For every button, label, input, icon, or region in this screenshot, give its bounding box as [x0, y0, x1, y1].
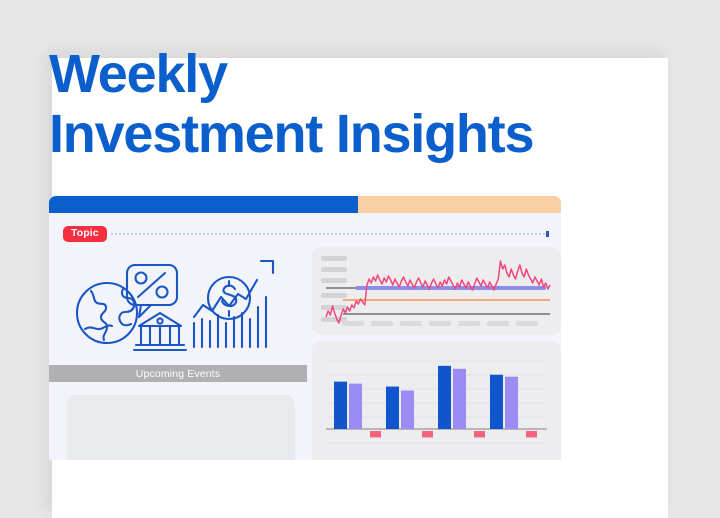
- panel-body: Topic: [49, 213, 561, 460]
- percent-speech-bubble-icon: [127, 265, 177, 317]
- page-title-line-1: Weekly: [49, 44, 227, 104]
- x-axis-label-stub: [371, 321, 393, 326]
- x-axis-label-stub: [429, 321, 451, 326]
- x-axis-label-stub: [487, 321, 509, 326]
- panel-top-bar: [49, 196, 561, 213]
- line-chart-card[interactable]: [312, 247, 561, 335]
- document-preview-panel[interactable]: Topic: [49, 196, 561, 460]
- topic-rule-end-marker: [546, 231, 549, 237]
- upcoming-events-card[interactable]: [67, 395, 295, 460]
- left-content-column: Upcoming Events: [49, 243, 307, 460]
- upcoming-events-bar: Upcoming Events: [49, 365, 307, 382]
- finance-illustration: [61, 251, 299, 355]
- x-axis-label-stub: [342, 321, 364, 326]
- topic-dotted-rule: [111, 233, 545, 235]
- x-axis-label-stub: [516, 321, 538, 326]
- upcoming-events-label: Upcoming Events: [136, 368, 221, 380]
- page-title: Weekly Investment Insights: [49, 44, 609, 165]
- right-charts-column: [312, 243, 561, 460]
- bar-chart-card[interactable]: [312, 341, 561, 460]
- top-bar-peach-segment: [358, 196, 561, 213]
- topic-row: Topic: [63, 225, 549, 243]
- top-bar-blue-segment: [49, 196, 358, 213]
- x-axis-label-stub: [400, 321, 422, 326]
- bank-building-icon: [134, 313, 186, 350]
- topic-badge[interactable]: Topic: [63, 226, 107, 243]
- page-title-line-2: Investment Insights: [49, 104, 609, 164]
- x-axis-label-stub: [458, 321, 480, 326]
- bar-chart-series: [312, 341, 561, 460]
